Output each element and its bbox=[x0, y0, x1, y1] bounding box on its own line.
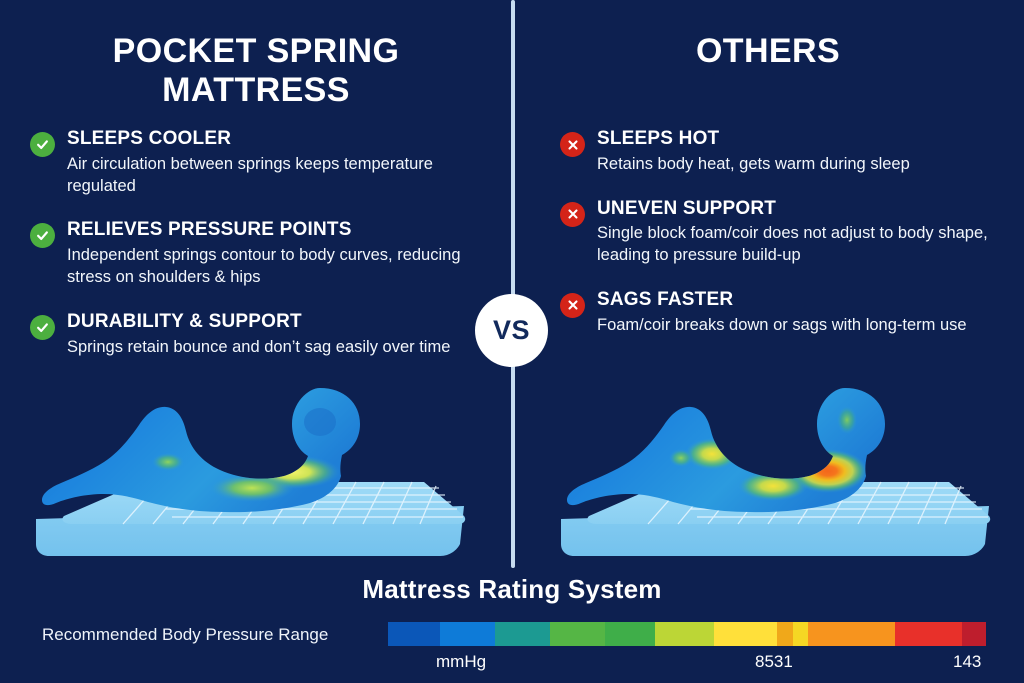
colorbar-segment-4 bbox=[605, 622, 655, 646]
feature-description: Retains body heat, gets warm during slee… bbox=[597, 154, 1010, 176]
legend-range-label: Recommended Body Pressure Range bbox=[42, 624, 382, 646]
feature-title: RELIEVES PRESSURE POINTS bbox=[67, 219, 490, 241]
column-title-pocket-spring: POCKET SPRING MATTRESS bbox=[0, 0, 512, 111]
feature-title: DURABILITY & SUPPORT bbox=[67, 311, 490, 333]
check-icon bbox=[30, 315, 55, 340]
feature-item: SLEEPS COOLER Air circulation between sp… bbox=[30, 128, 490, 197]
colorbar-segment-2 bbox=[495, 622, 550, 646]
check-icon bbox=[30, 223, 55, 248]
infographic-stage: POCKET SPRING MATTRESS SLEEPS COOLER Air… bbox=[0, 0, 1024, 683]
colorbar-segment-7 bbox=[777, 622, 793, 646]
feature-title: SLEEPS HOT bbox=[597, 128, 1010, 150]
check-icon bbox=[30, 132, 55, 157]
feature-description: Air circulation between springs keeps te… bbox=[67, 154, 490, 198]
feature-description: Single block foam/coir does not adjust t… bbox=[597, 223, 1010, 267]
feature-item: RELIEVES PRESSURE POINTS Independent spr… bbox=[30, 219, 490, 288]
colorbar-segment-11 bbox=[962, 622, 986, 646]
feature-item: SAGS FASTER Foam/coir breaks down or sag… bbox=[560, 289, 1010, 337]
close-icon bbox=[560, 132, 585, 157]
feature-title: SAGS FASTER bbox=[597, 289, 1010, 311]
colorbar-segment-3 bbox=[550, 622, 605, 646]
feature-description: Independent springs contour to body curv… bbox=[67, 245, 490, 289]
heatmap-illustration-pocket-spring bbox=[20, 376, 480, 571]
close-icon bbox=[560, 202, 585, 227]
colorbar-segment-0 bbox=[388, 622, 440, 646]
colorbar-segment-8 bbox=[793, 622, 809, 646]
colorbar-segment-1 bbox=[440, 622, 495, 646]
feature-item: SLEEPS HOT Retains body heat, gets warm … bbox=[560, 128, 1010, 176]
vs-badge: VS bbox=[475, 294, 548, 367]
legend-title: Mattress Rating System bbox=[0, 574, 1024, 605]
feature-item: DURABILITY & SUPPORT Springs retain boun… bbox=[30, 311, 490, 359]
colorbar-segment-10 bbox=[895, 622, 962, 646]
feature-list-pocket-spring: SLEEPS COOLER Air circulation between sp… bbox=[30, 128, 490, 358]
feature-item: UNEVEN SUPPORT Single block foam/coir do… bbox=[560, 198, 1010, 267]
feature-title: SLEEPS COOLER bbox=[67, 128, 490, 150]
colorbar-segment-6 bbox=[714, 622, 777, 646]
colorbar-tick-mid: 8531 bbox=[755, 652, 793, 672]
heatmap-illustration-others bbox=[545, 376, 1005, 571]
colorbar-tick-unit: mmHg bbox=[436, 652, 486, 672]
feature-list-others: SLEEPS HOT Retains body heat, gets warm … bbox=[560, 128, 1010, 337]
feature-description: Foam/coir breaks down or sags with long-… bbox=[597, 315, 1010, 337]
feature-description: Springs retain bounce and don’t sag easi… bbox=[67, 337, 490, 359]
colorbar-segment-9 bbox=[808, 622, 895, 646]
column-title-others: OTHERS bbox=[512, 0, 1024, 71]
pressure-colorbar bbox=[388, 622, 986, 646]
colorbar-tick-max: 143 bbox=[953, 652, 981, 672]
close-icon bbox=[560, 293, 585, 318]
feature-title: UNEVEN SUPPORT bbox=[597, 198, 1010, 220]
colorbar-segment-5 bbox=[655, 622, 715, 646]
